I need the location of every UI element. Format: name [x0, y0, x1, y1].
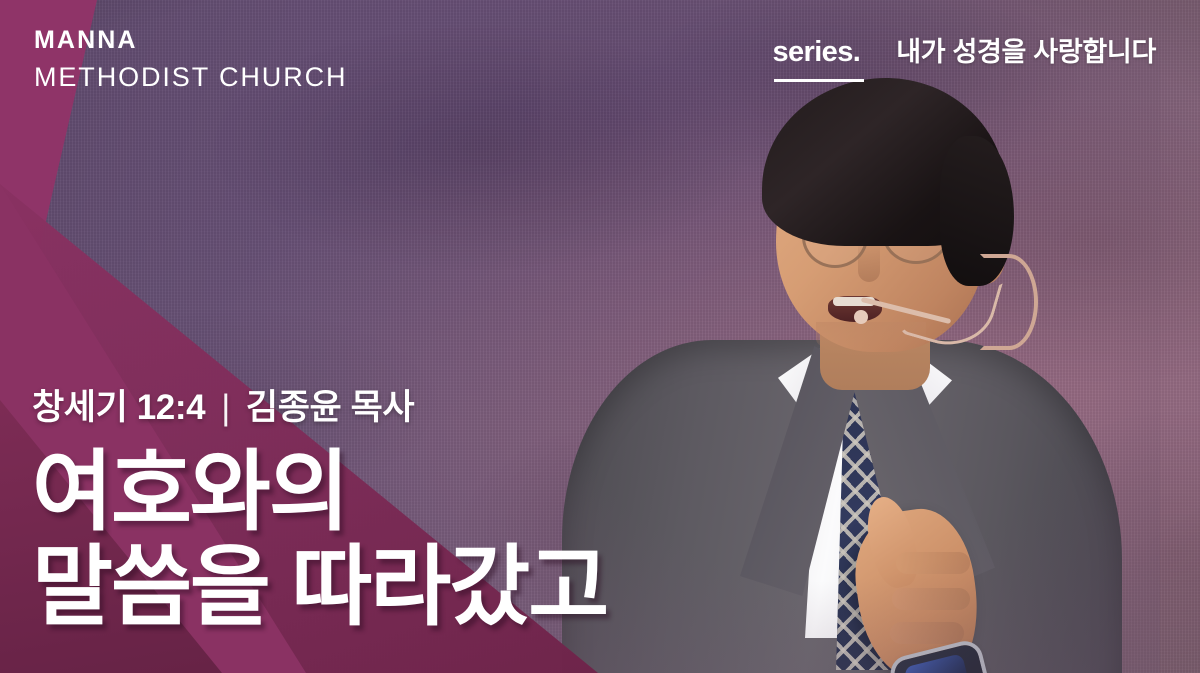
speaker-portrait [540, 40, 1160, 673]
series-label: series. [772, 36, 860, 69]
church-logo: MANNA METHODIST CHURCH [34, 28, 347, 91]
series-title: 내가 성경을 사랑합니다 [896, 30, 1156, 69]
finger [892, 588, 970, 610]
headset-mic-capsule [854, 310, 868, 324]
sermon-info-block: 창세기 12:4|김종윤 목사 여호와의 말씀을 따라갔고 [32, 379, 607, 633]
scripture-reference-line: 창세기 12:4|김종윤 목사 [32, 379, 607, 430]
finger [896, 552, 970, 574]
speaker-name: 김종윤 목사 [246, 388, 414, 427]
sermon-title-card: MANNA METHODIST CHURCH series. 내가 성경을 사랑… [0, 0, 1200, 673]
finger [890, 622, 964, 644]
series-badge: series. 내가 성경을 사랑합니다 [772, 30, 1156, 69]
church-logo-line1: MANNA [34, 28, 347, 53]
church-logo-line2: METHODIST CHURCH [34, 64, 347, 91]
sermon-title-line-2: 말씀을 따라갔고 [32, 541, 607, 633]
scripture-reference: 창세기 12:4 [32, 388, 205, 427]
sermon-title-line-1: 여호와의 [32, 446, 607, 538]
reference-separator: | [221, 388, 230, 428]
